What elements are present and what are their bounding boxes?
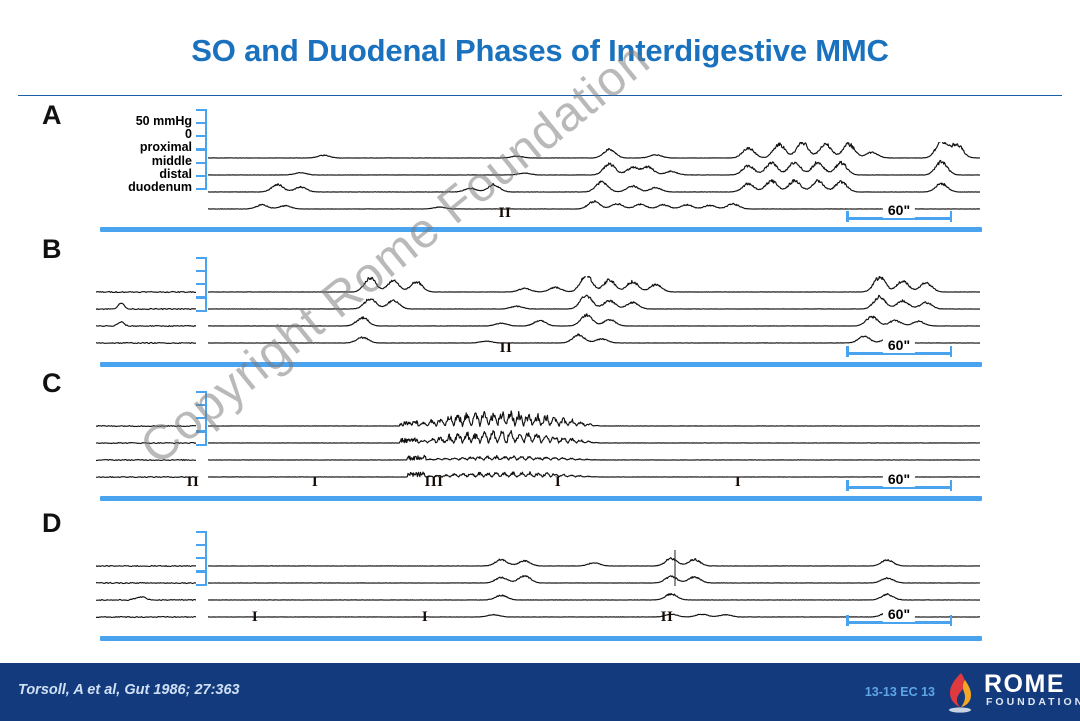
phase-mark-d-0: I bbox=[252, 610, 258, 625]
phase-mark-d-1: I bbox=[422, 610, 428, 625]
scale-label: 60" bbox=[883, 203, 915, 218]
page-title: SO and Duodenal Phases of Interdigestive… bbox=[0, 33, 1080, 69]
panel-separator-d bbox=[100, 636, 982, 641]
panel-c-traces bbox=[208, 410, 980, 486]
time-scale-bar: 60" bbox=[846, 208, 952, 226]
trace-line-proximal bbox=[208, 558, 980, 566]
axis-label-proximal: proximal bbox=[80, 141, 192, 154]
trace-line-middle bbox=[208, 295, 980, 309]
trace-stub-group bbox=[96, 410, 196, 486]
logo-subtitle: FOUNDATION bbox=[986, 697, 1080, 708]
scale-cap-right bbox=[950, 211, 953, 222]
trace-line bbox=[96, 617, 196, 618]
trace-line-duodenum bbox=[208, 334, 980, 343]
trace-line bbox=[96, 460, 196, 461]
trace-line-middle bbox=[208, 160, 980, 175]
axis-label-middle: middle bbox=[80, 155, 192, 168]
axis-label-duodenum: duodenum bbox=[80, 181, 192, 194]
phase-mark-c-1: I bbox=[312, 475, 318, 490]
time-scale-bar: 60" bbox=[846, 343, 952, 361]
trace-stub-group bbox=[96, 550, 196, 626]
trace-line-proximal bbox=[208, 411, 980, 427]
scale-cap-left bbox=[846, 346, 849, 357]
scale-cap-right bbox=[950, 346, 953, 357]
phase-mark-c-2: III bbox=[424, 475, 443, 490]
trace-line bbox=[96, 426, 196, 427]
panel-separator-c bbox=[100, 496, 982, 501]
trace-line bbox=[96, 443, 196, 444]
trace-stub-group bbox=[96, 276, 196, 352]
trace-line bbox=[96, 292, 196, 293]
panel-separator-b bbox=[100, 362, 982, 367]
scale-cap-right bbox=[950, 615, 953, 626]
manometry-figure: A50 mmHg0proximalmiddledistalduodenumII6… bbox=[0, 98, 1080, 658]
trace-line bbox=[96, 477, 196, 478]
phase-mark-b-0: II bbox=[500, 341, 513, 356]
slide-footer: Torsoll, A et al, Gut 1986; 27:363 13-13… bbox=[0, 663, 1080, 721]
phase-mark-c-3: I bbox=[555, 475, 561, 490]
scale-label: 60" bbox=[883, 338, 915, 353]
scale-label: 60" bbox=[883, 472, 915, 487]
slide-code: 13-13 EC 13 bbox=[865, 685, 935, 699]
scale-cap-left bbox=[846, 211, 849, 222]
trace-line bbox=[96, 303, 196, 309]
trace-line-distal bbox=[208, 594, 980, 600]
rome-flame-icon bbox=[940, 671, 980, 715]
trace-line-distal bbox=[208, 314, 980, 326]
trace-line bbox=[96, 322, 196, 327]
trace-line-proximal bbox=[208, 276, 980, 292]
channel-axis-labels: 50 mmHg0proximalmiddledistalduodenum bbox=[80, 115, 192, 194]
panel-letter-c: C bbox=[42, 370, 62, 397]
trace-line-proximal bbox=[208, 142, 980, 158]
time-scale-bar: 60" bbox=[846, 477, 952, 495]
trace-line-middle bbox=[208, 576, 980, 583]
trace-line-middle bbox=[208, 431, 980, 444]
right-bracket-icon bbox=[196, 431, 207, 446]
title-divider bbox=[18, 95, 1062, 96]
scale-cap-left bbox=[846, 615, 849, 626]
trace-line bbox=[96, 343, 196, 344]
right-bracket-icon bbox=[196, 571, 207, 586]
rome-foundation-logo: ROME FOUNDATION bbox=[940, 671, 1072, 715]
trace-line bbox=[96, 566, 196, 567]
panel-b-traces bbox=[208, 276, 980, 352]
logo-wordmark: ROME bbox=[984, 672, 1065, 697]
scale-cap-left bbox=[846, 480, 849, 491]
phase-mark-a-0: II bbox=[499, 206, 512, 221]
trace-line bbox=[96, 583, 196, 584]
trace-line-distal bbox=[208, 180, 980, 193]
trace-line-distal bbox=[208, 455, 980, 460]
scale-cap-right bbox=[950, 480, 953, 491]
scale-label: 60" bbox=[883, 607, 915, 622]
citation-text: Torsoll, A et al, Gut 1986; 27:363 bbox=[18, 682, 240, 698]
panel-letter-d: D bbox=[42, 510, 62, 537]
right-bracket-icon bbox=[196, 297, 207, 312]
phase-mark-c-0: II bbox=[187, 475, 200, 490]
panel-letter-b: B bbox=[42, 236, 62, 263]
panel-separator-a bbox=[100, 227, 982, 232]
phase-mark-c-4: I bbox=[735, 475, 741, 490]
time-scale-bar: 60" bbox=[846, 612, 952, 630]
panel-a-traces bbox=[208, 142, 980, 218]
trace-line bbox=[96, 597, 196, 601]
phase-mark-d-2: II bbox=[661, 610, 674, 625]
right-bracket-icon bbox=[196, 175, 207, 190]
axis-label-50-mmhg: 50 mmHg bbox=[80, 115, 192, 128]
panel-letter-a: A bbox=[42, 102, 62, 129]
